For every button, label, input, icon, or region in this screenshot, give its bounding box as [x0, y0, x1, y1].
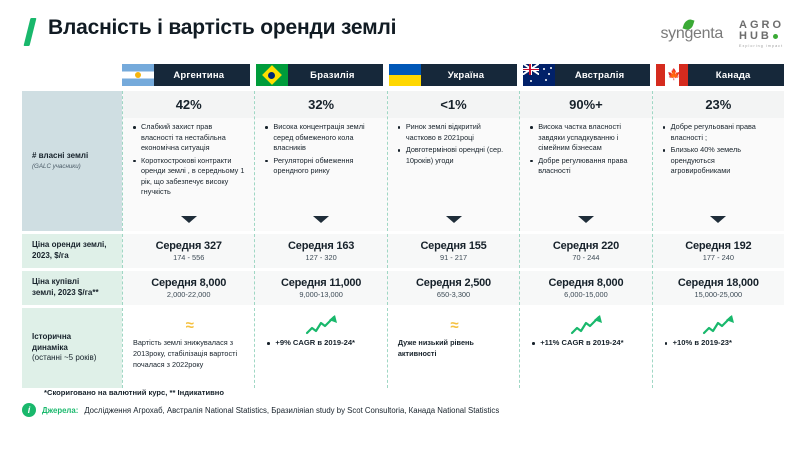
row-label-line1: Ціна купівлі: [32, 277, 114, 288]
avg-value: Середня 220: [553, 240, 619, 252]
row-label-sub: (GALC учасники): [32, 163, 114, 171]
range-value: 2,000-22,000: [167, 290, 211, 299]
row-label-buy-price: Ціна купівлі землі, 2023 $/га**: [22, 271, 122, 305]
list-item: Довготермінові орендні (сер. 10років) уг…: [398, 145, 511, 166]
flag-argentina-icon: [122, 64, 154, 86]
list-item: Короткострокові контракти оренди землі ,…: [133, 156, 246, 198]
avg-value: Середня 163: [288, 240, 354, 252]
cell-rent-argentina: Середня 327 174 - 556: [122, 234, 254, 268]
cell-buy-ukraine: Середня 2,500 650-3,300: [387, 271, 519, 305]
avg-value: Середня 155: [420, 240, 486, 252]
cell-ownership-argentina: 42% Слабкий захист прав власності та нес…: [122, 91, 254, 231]
list-item: Регуляторні обмеження орендного ринку: [265, 156, 378, 177]
header-spacer: [22, 64, 122, 88]
trend-up-icon: [530, 312, 643, 338]
history-text: Дуже низький рівень активності: [398, 338, 511, 360]
row-label-ownership: # власні землі (GALC учасники): [22, 91, 122, 231]
sun-icon: [135, 72, 141, 78]
column-header-brazil[interactable]: Бразилія: [256, 64, 384, 86]
bullet-list: Висока концентрація землі серед обмежено…: [255, 118, 386, 177]
range-value: 6,000-15,000: [564, 290, 608, 299]
info-icon: i: [22, 403, 36, 417]
row-rent-price: Ціна оренди землі, 2023, $/га Середня 32…: [22, 234, 784, 268]
flag-canada-icon: 🍁: [656, 64, 688, 86]
row-ownership: # власні землі (GALC учасники) 42% Слабк…: [22, 91, 784, 231]
row-label-line1: Ціна оренди землі,: [32, 240, 114, 251]
cell-ownership-australia: 90%+ Висока частка власності завдяки усп…: [519, 91, 651, 231]
row-label-line2: 2023, $/га: [32, 251, 114, 262]
trend-flat-icon: ≈: [133, 312, 246, 338]
column-header-canada[interactable]: 🍁 Канада: [656, 64, 784, 86]
table-header-row: Аргентина Бразилія Україна: [22, 64, 784, 88]
row-label-line2: динаміка: [32, 343, 114, 354]
column-header-label: Бразилія: [288, 70, 384, 81]
cell-buy-argentina: Середня 8,000 2,000-22,000: [122, 271, 254, 305]
arrow-down-icon: [578, 216, 594, 223]
bullet-list: Добре регульовані права власності ; Близ…: [653, 118, 784, 177]
avg-value: Середня 8,000: [548, 277, 623, 289]
history-text: +9% CAGR в 2019-24*: [265, 338, 378, 347]
column-header-label: Україна: [421, 70, 517, 81]
range-value: 15,000-25,000: [694, 290, 742, 299]
avg-value: Середня 2,500: [416, 277, 491, 289]
range-value: 9,000-13,000: [299, 290, 343, 299]
list-item: Добре регульовані права власності ;: [663, 122, 776, 143]
agrohub-line2-wrap: HUB: [739, 31, 784, 42]
column-header-ukraine[interactable]: Україна: [389, 64, 517, 86]
dot-icon: [773, 34, 778, 39]
cell-history-canada: +10% в 2019-23*: [652, 308, 784, 388]
list-item: Висока концентрація землі серед обмежено…: [265, 122, 378, 154]
history-text: +10% в 2019-23*: [663, 338, 776, 347]
globe-shape: [268, 72, 275, 79]
avg-value: Середня 11,000: [281, 277, 361, 289]
bullet-list: Ринок землі відкритий частково в 2021роц…: [388, 118, 519, 166]
trend-flat-icon: ≈: [398, 312, 511, 338]
trend-up-icon: [265, 312, 378, 338]
canada-bar-left: [656, 64, 665, 86]
column-header-label: Аргентина: [154, 70, 250, 81]
bullet-list: Висока частка власності завдяки успадкув…: [520, 118, 651, 177]
syngenta-logo-text: syngenta: [660, 25, 723, 42]
cell-rent-ukraine: Середня 155 91 - 217: [387, 234, 519, 268]
list-item: Добре регулювання права власності: [530, 156, 643, 177]
cell-history-australia: +11% CAGR в 2019-24*: [519, 308, 651, 388]
history-text: +11% CAGR в 2019-24*: [530, 338, 643, 347]
column-header-label: Канада: [688, 70, 784, 81]
cell-rent-canada: Середня 192 177 - 240: [652, 234, 784, 268]
logo-group: syngenta AGRO HUB Exploring impact: [660, 20, 784, 49]
cell-buy-canada: Середня 18,000 15,000-25,000: [652, 271, 784, 305]
uj-cross-v2: [529, 64, 531, 75]
star-icon: [543, 68, 545, 70]
agrohub-line2: HUB: [739, 30, 772, 42]
row-label-line1: Історична: [32, 332, 114, 343]
arrow-down-icon: [446, 216, 462, 223]
column-header-argentina[interactable]: Аргентина: [122, 64, 250, 86]
row-label-line3: (останні ~5 років): [32, 353, 114, 364]
row-label-rent-price: Ціна оренди землі, 2023, $/га: [22, 234, 122, 268]
ownership-percent: 90%+: [520, 91, 651, 118]
sources-label: Джерела:: [42, 406, 78, 415]
list-item: Ринок землі відкритий частково в 2021роц…: [398, 122, 511, 143]
row-label-line2: землі, 2023 $/га**: [32, 288, 114, 299]
star-icon: [550, 67, 552, 69]
cell-buy-australia: Середня 8,000 6,000-15,000: [519, 271, 651, 305]
ownership-percent: 32%: [255, 91, 386, 118]
range-value: 174 - 556: [173, 253, 204, 262]
flag-ukraine-icon: [389, 64, 421, 86]
cell-ownership-brazil: 32% Висока концентрація землі серед обме…: [254, 91, 386, 231]
slide-root: Власність і вартість оренди землі syngen…: [0, 0, 800, 449]
range-value: 70 - 244: [572, 253, 599, 262]
page-title: Власність і вартість оренди землі: [48, 16, 396, 40]
agrohub-logo: AGRO HUB Exploring impact: [739, 20, 784, 49]
cell-history-ukraine: ≈ Дуже низький рівень активності: [387, 308, 519, 388]
row-history: Історична динаміка (останні ~5 років) ≈ …: [22, 308, 784, 388]
cell-history-argentina: ≈ Вартість землі знижувалася з 2013року,…: [122, 308, 254, 388]
range-value: 91 - 217: [440, 253, 467, 262]
cell-ownership-canada: 23% Добре регульовані права власності ; …: [652, 91, 784, 231]
sources-text: Дослідження Агрохаб, Австралія National …: [84, 406, 499, 415]
avg-value: Середня 18,000: [678, 277, 759, 289]
range-value: 127 - 320: [305, 253, 336, 262]
slide-header: Власність і вартість оренди землі syngen…: [0, 0, 800, 62]
list-item: Близько 40% земель орендуються агровироб…: [663, 145, 776, 177]
list-item: Слабкий захист прав власності та нестабі…: [133, 122, 246, 154]
footnote: *Скориговано на валютний курс, ** Індика…: [44, 388, 782, 397]
cell-history-brazil: +9% CAGR в 2019-24*: [254, 308, 386, 388]
star-icon: [545, 79, 547, 81]
range-value: 650-3,300: [437, 290, 470, 299]
star-icon: [530, 80, 532, 82]
cell-buy-brazil: Середня 11,000 9,000-13,000: [254, 271, 386, 305]
ownership-percent: 42%: [123, 91, 254, 118]
arrow-down-icon: [313, 216, 329, 223]
cell-rent-australia: Середня 220 70 - 244: [519, 234, 651, 268]
slide-footer: *Скориговано на валютний курс, ** Індика…: [22, 388, 782, 417]
accent-slash-icon: [24, 18, 37, 46]
maple-leaf-icon: 🍁: [667, 70, 677, 80]
cell-ownership-ukraine: <1% Ринок землі відкритий частково в 202…: [387, 91, 519, 231]
syngenta-logo: syngenta: [660, 25, 723, 43]
row-buy-price: Ціна купівлі землі, 2023 $/га** Середня …: [22, 271, 784, 305]
history-text: Вартість землі знижувалася з 2013року, с…: [133, 338, 246, 371]
agrohub-sub: Exploring impact: [739, 45, 784, 49]
avg-value: Середня 327: [156, 240, 222, 252]
arrow-down-icon: [710, 216, 726, 223]
range-value: 177 - 240: [703, 253, 734, 262]
ownership-percent: <1%: [388, 91, 519, 118]
list-item: Висока частка власності завдяки успадкув…: [530, 122, 643, 154]
avg-value: Середня 8,000: [151, 277, 226, 289]
ownership-percent: 23%: [653, 91, 784, 118]
bullet-list: Слабкий захист прав власності та нестабі…: [123, 118, 254, 198]
trend-up-icon: [663, 312, 776, 338]
row-label-history: Історична динаміка (останні ~5 років): [22, 308, 122, 388]
star-icon: [548, 73, 550, 75]
column-header-australia[interactable]: Австралія: [523, 64, 651, 86]
comparison-table: Аргентина Бразилія Україна: [22, 64, 784, 388]
row-label-main: # власні землі: [32, 151, 114, 162]
flag-australia-icon: [523, 64, 555, 86]
column-header-label: Австралія: [555, 70, 651, 81]
arrow-down-icon: [181, 216, 197, 223]
cell-rent-brazil: Середня 163 127 - 320: [254, 234, 386, 268]
flag-brazil-icon: [256, 64, 288, 86]
avg-value: Середня 192: [685, 240, 751, 252]
sources-row: i Джерела: Дослідження Агрохаб, Австралі…: [22, 403, 782, 417]
